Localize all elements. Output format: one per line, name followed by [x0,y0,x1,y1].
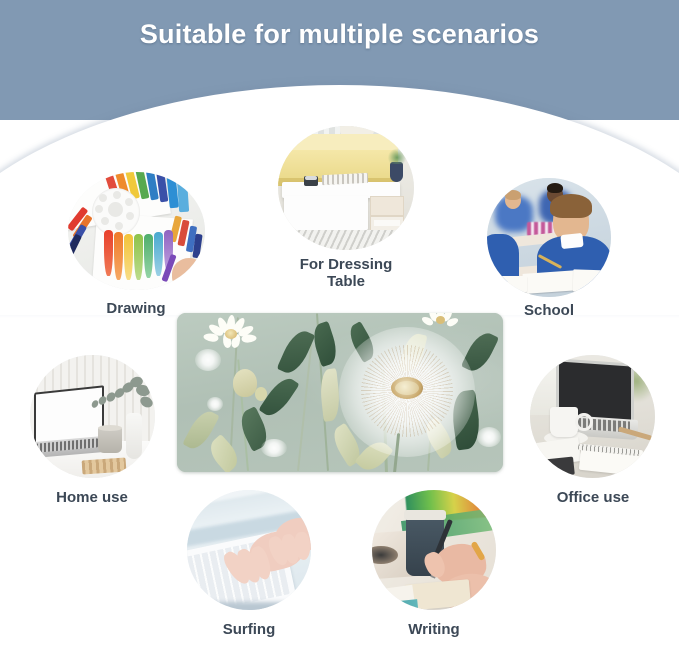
scenario-photo-office-use [530,355,655,478]
scenario-photo-home-use [30,355,155,478]
school-scene [487,178,611,297]
scenario-label-dressing-table: For Dressing Table [266,256,426,290]
scenario-label-surfing: Surfing [169,621,329,638]
scenario-label-office-use: Office use [513,489,673,506]
drawing-scene [68,172,205,290]
scenario-photo-dressing-table [278,126,414,250]
scenario-photo-writing [372,490,496,610]
page-title: Suitable for multiple scenarios [0,19,679,50]
scenario-photo-drawing [68,172,205,290]
writing-scene [372,490,496,610]
office-use-scene [530,355,655,478]
surfing-scene [187,490,311,610]
scenario-photo-surfing [187,490,311,610]
infographic-canvas: Suitable for multiple scenarios [0,0,679,646]
scenario-label-writing: Writing [354,621,514,638]
scenario-photo-school [487,178,611,297]
home-use-scene [30,355,155,478]
dressing-table-scene [278,126,414,250]
scenario-label-home-use: Home use [12,489,172,506]
product-desk-mat [177,313,503,472]
